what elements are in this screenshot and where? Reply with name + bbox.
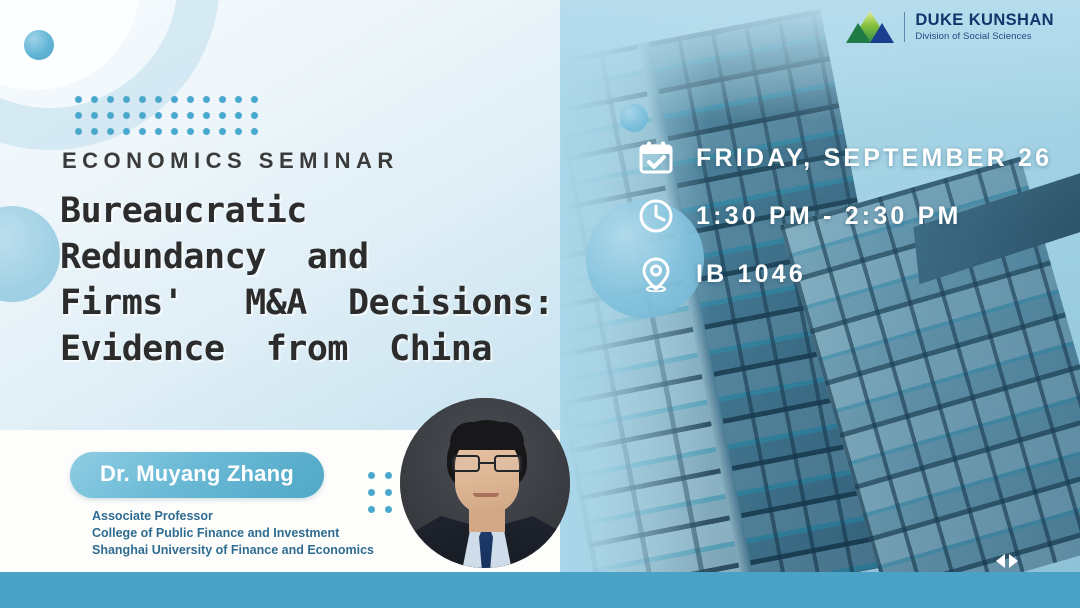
decorative-dot (385, 472, 392, 479)
event-time-text: 1:30 PM - 2:30 PM (696, 202, 962, 231)
speaker-headshot (400, 398, 570, 568)
glasses-lens-right (494, 455, 522, 472)
decorative-dot (107, 112, 114, 119)
logo-divider (904, 12, 905, 42)
event-location-text: IB 1046 (696, 260, 806, 289)
decorative-dot (139, 96, 146, 103)
title-line: Evidence from China (60, 326, 670, 372)
decorative-dot (155, 128, 162, 135)
speaker-name-badge: Dr. Muyang Zhang (70, 452, 324, 498)
affiliation-line: Associate Professor (92, 508, 374, 525)
decorative-dot (219, 112, 226, 119)
decorative-dot (368, 506, 375, 513)
decorative-dot (139, 112, 146, 119)
affiliation-line: Shanghai University of Finance and Econo… (92, 542, 374, 559)
location-pin-icon (638, 256, 674, 292)
decorative-dot (171, 112, 178, 119)
slide-nav-arrows[interactable] (996, 554, 1018, 568)
title-line: Bureaucratic (60, 188, 670, 234)
next-arrow-icon[interactable] (1009, 554, 1018, 568)
decorative-dot (203, 96, 210, 103)
speaker-affiliation: Associate Professor College of Public Fi… (92, 508, 374, 559)
decorative-dot (91, 96, 98, 103)
decorative-dot (75, 96, 82, 103)
decorative-dot (385, 489, 392, 496)
logo-title: DUKE KUNSHAN (915, 12, 1054, 29)
decorative-dot (251, 128, 258, 135)
decorative-dot (123, 128, 130, 135)
decorative-dot (368, 489, 375, 496)
calendar-check-icon (638, 140, 674, 176)
glasses-lens-left (452, 455, 480, 472)
affiliation-line: College of Public Finance and Investment (92, 525, 374, 542)
decorative-dot (91, 128, 98, 135)
decorative-bubble-corner (24, 30, 54, 60)
decorative-dot (251, 96, 258, 103)
logo-subtitle: Division of Social Sciences (915, 32, 1054, 42)
decorative-dot (187, 112, 194, 119)
decorative-dot (123, 112, 130, 119)
decorative-dot (235, 128, 242, 135)
decorative-dot (91, 112, 98, 119)
decorative-dot (107, 96, 114, 103)
decorative-dot (187, 96, 194, 103)
seminar-kicker: ECONOMICS SEMINAR (62, 148, 399, 174)
title-line: Redundancy and (60, 234, 670, 280)
decorative-dot (171, 128, 178, 135)
headshot-fringe (450, 422, 524, 450)
event-detail-date: FRIDAY, SEPTEMBER 26 (638, 140, 1052, 176)
decorative-dot (203, 112, 210, 119)
event-detail-location: IB 1046 (638, 256, 1052, 292)
decorative-dot (75, 112, 82, 119)
prev-arrow-icon[interactable] (996, 554, 1005, 568)
decorative-bubble-left (0, 206, 60, 302)
decorative-dot (155, 112, 162, 119)
seminar-title: Bureaucratic Redundancy and Firms' M&A D… (60, 188, 670, 372)
decorative-dot (219, 128, 226, 135)
headshot-glasses (452, 455, 522, 472)
decorative-dot (219, 96, 226, 103)
decorative-dot-grid-top (75, 96, 267, 144)
logo-wordmark: DUKE KUNSHAN Division of Social Sciences (915, 12, 1054, 41)
decorative-dot (171, 96, 178, 103)
decorative-dot (155, 96, 162, 103)
decorative-dot-grid-mid (368, 472, 402, 523)
decorative-dot (235, 96, 242, 103)
decorative-dot (187, 128, 194, 135)
clock-icon (638, 198, 674, 234)
headshot-mouth (473, 493, 499, 497)
event-details: FRIDAY, SEPTEMBER 26 1:30 PM - 2:30 PM I… (638, 140, 1052, 292)
seminar-poster: DUKE KUNSHAN Division of Social Sciences… (0, 0, 1080, 608)
decorative-dot (251, 112, 258, 119)
title-line: Firms' M&A Decisions: (60, 280, 670, 326)
decorative-bubble-small (620, 104, 648, 132)
event-date-text: FRIDAY, SEPTEMBER 26 (696, 144, 1052, 173)
duke-kunshan-logo[interactable]: DUKE KUNSHAN Division of Social Sciences (846, 10, 1054, 44)
decorative-dot (235, 112, 242, 119)
decorative-dot (123, 96, 130, 103)
glasses-bridge (480, 462, 494, 464)
event-detail-time: 1:30 PM - 2:30 PM (638, 198, 1052, 234)
duke-kunshan-mountain-logo-icon (846, 10, 894, 44)
bottom-bar (0, 572, 1080, 608)
decorative-dot (107, 128, 114, 135)
decorative-dot (368, 472, 375, 479)
decorative-dot (385, 506, 392, 513)
decorative-dot (139, 128, 146, 135)
decorative-dot (203, 128, 210, 135)
decorative-dot (75, 128, 82, 135)
